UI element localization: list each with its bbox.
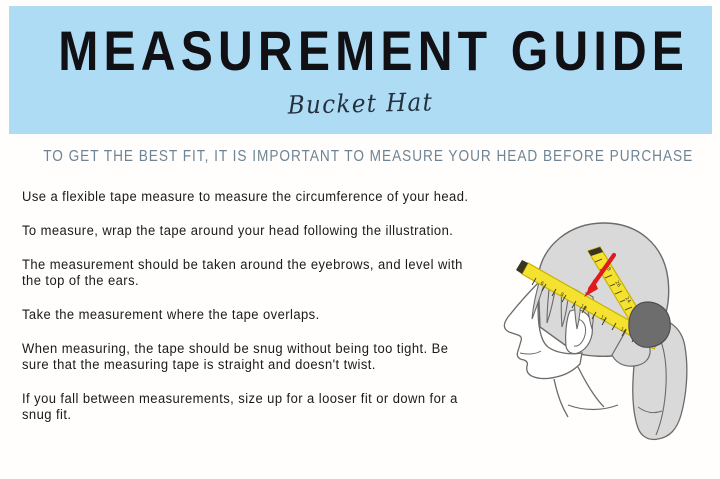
instruction-paragraph: When measuring, the tape should be snug …	[22, 341, 478, 373]
sub-heading: TO GET THE BEST FIT, IT IS IMPORTANT TO …	[43, 148, 677, 166]
instruction-paragraph: Take the measurement where the tape over…	[22, 307, 478, 323]
instruction-paragraph: Use a flexible tape measure to measure t…	[22, 189, 478, 205]
instruction-paragraph: To measure, wrap the tape around your he…	[22, 223, 478, 239]
measurement-guide-page: MEASUREMENT GUIDE Bucket Hat TO GET THE …	[0, 0, 720, 479]
instruction-paragraph: If you fall between measurements, size u…	[22, 391, 478, 423]
head-measurement-illustration: 28 26 24 22	[478, 207, 720, 457]
instruction-paragraph: The measurement should be taken around t…	[22, 257, 478, 289]
instructions-list: Use a flexible tape measure to measure t…	[22, 189, 492, 423]
header-band: MEASUREMENT GUIDE Bucket Hat	[9, 6, 712, 134]
page-title: MEASUREMENT GUIDE	[58, 22, 663, 80]
product-subtitle: Bucket Hat	[37, 82, 684, 127]
hair-tie-shape	[629, 302, 670, 347]
